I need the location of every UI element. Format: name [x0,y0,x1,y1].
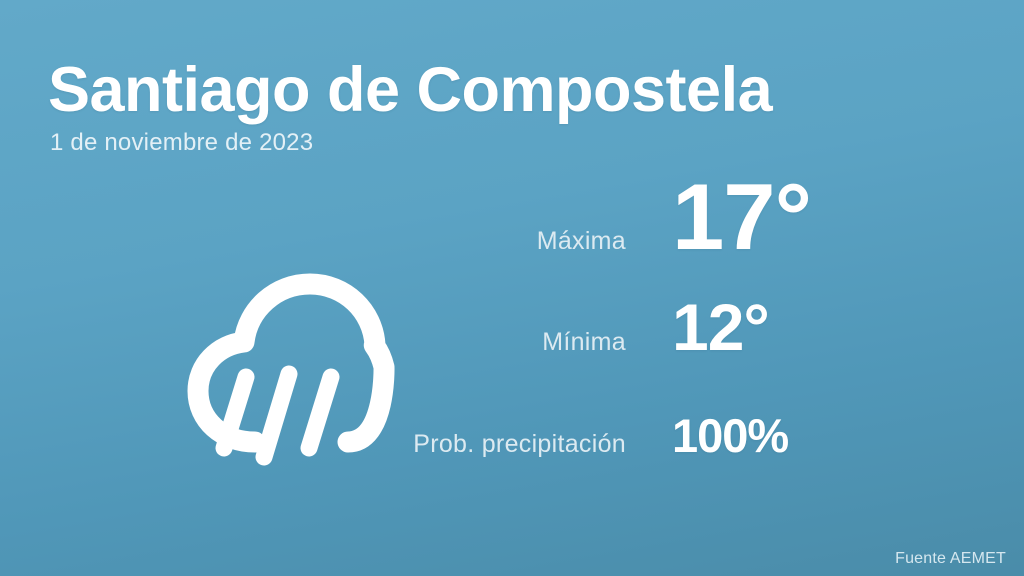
stat-label-maxima: Máxima [400,227,672,256]
stat-value-precipitation: 100% [672,412,788,459]
rain-streak-2 [264,374,289,457]
stat-label-precipitation: Prob. precipitación [400,430,672,459]
stat-label-minima: Mínima [400,328,672,357]
header: Santiago de Compostela 1 de noviembre de… [48,58,948,156]
weather-card: Santiago de Compostela 1 de noviembre de… [0,0,1024,576]
stat-value-minima: 12° [672,294,769,360]
stat-row-precipitation: Prob. precipitación 100% [400,412,960,482]
stat-value-maxima: 17° [672,170,811,264]
stat-row-maxima: Máxima 17° [400,170,960,294]
weather-stats: Máxima 17° Mínima 12° Prob. precipitació… [400,170,960,482]
rain-streak-3 [309,377,331,448]
source-attribution: Fuente AEMET [895,550,1006,568]
stat-row-minima: Mínima 12° [400,294,960,412]
heavy-rain-cloud-icon [180,252,400,482]
date-subtitle: 1 de noviembre de 2023 [50,130,948,156]
page-title: Santiago de Compostela [48,58,948,124]
